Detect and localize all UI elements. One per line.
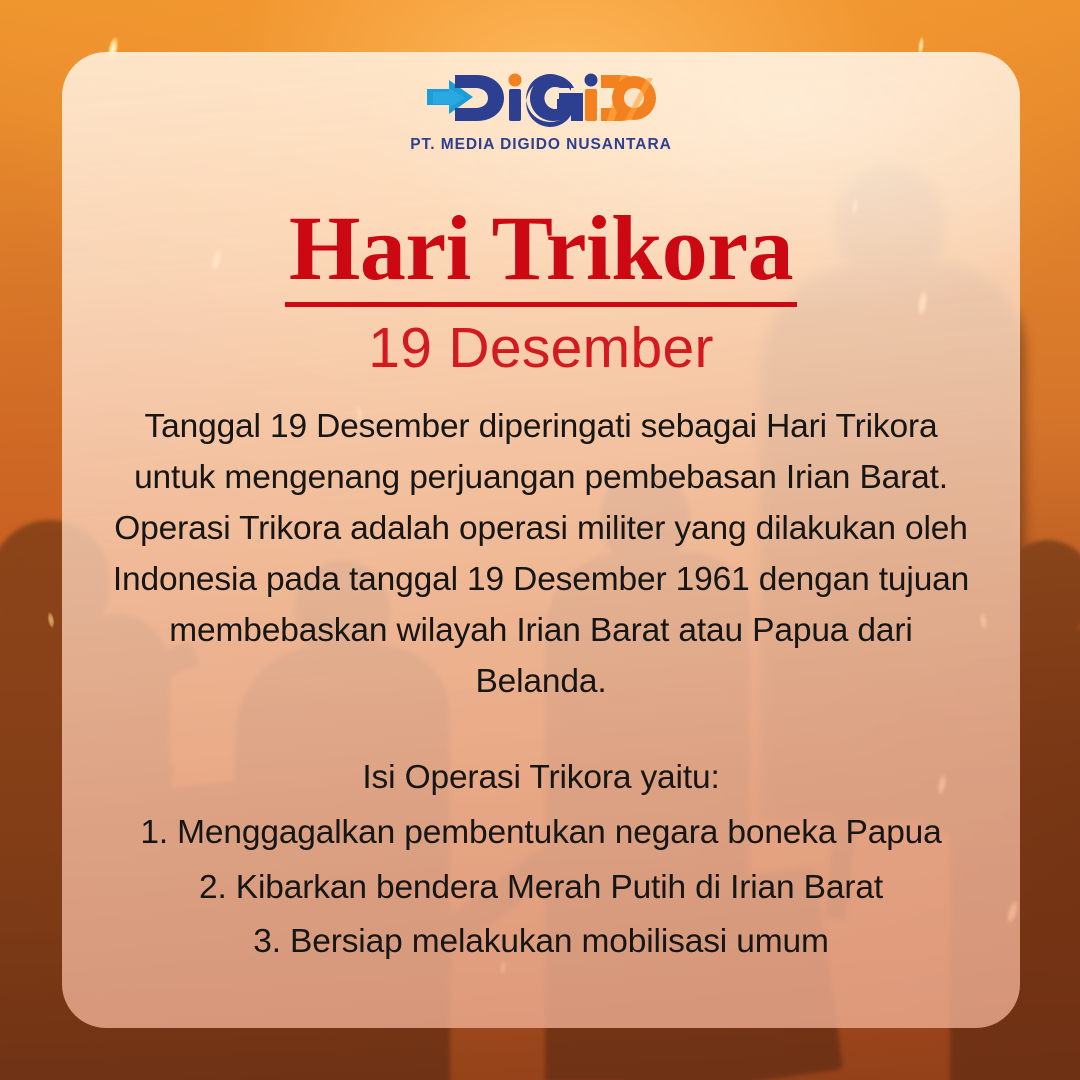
operation-points: Isi Operasi Trikora yaitu: 1. Menggagalk… (112, 753, 970, 969)
list-item: 1. Menggagalkan pembentukan negara bonek… (112, 806, 970, 860)
poster-canvas: PT. MEDIA DIGIDO NUSANTARA Hari Trikora … (0, 0, 1080, 1080)
list-item: 2. Kibarkan bendera Merah Putih di Irian… (112, 861, 970, 915)
page-subtitle-date: 19 Desember (104, 319, 978, 379)
title-block: Hari Trikora 19 Desember (104, 202, 978, 379)
brand-logo: PT. MEDIA DIGIDO NUSANTARA (104, 66, 978, 154)
list-container: 1. Menggagalkan pembentukan negara bonek… (112, 806, 970, 969)
body-paragraph: Tanggal 19 Desember diperingati sebagai … (112, 402, 970, 707)
list-item: 3. Bersiap melakukan mobilisasi umum (112, 915, 970, 969)
digido-logo-icon (425, 66, 657, 130)
content-card: PT. MEDIA DIGIDO NUSANTARA Hari Trikora … (62, 52, 1020, 1028)
body-block: Tanggal 19 Desember diperingati sebagai … (112, 402, 970, 969)
list-heading: Isi Operasi Trikora yaitu: (112, 753, 970, 804)
page-title: Hari Trikora (285, 202, 797, 307)
brand-tagline: PT. MEDIA DIGIDO NUSANTARA (104, 136, 978, 154)
